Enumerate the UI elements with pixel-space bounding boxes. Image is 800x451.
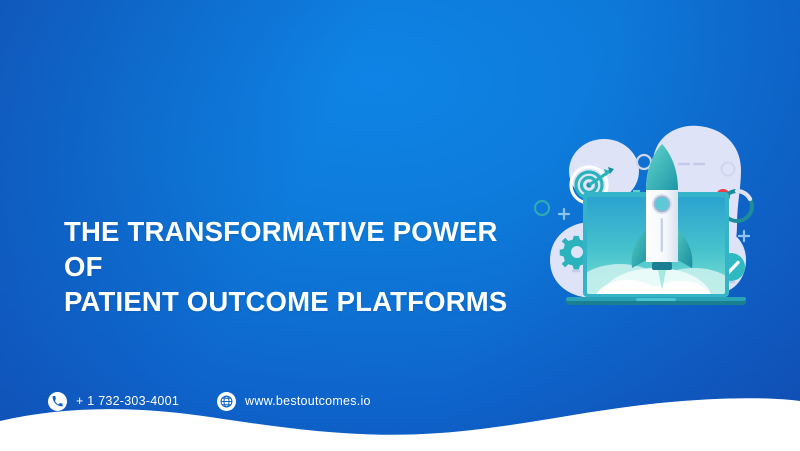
bottom-wave-decoration <box>0 391 800 451</box>
rocket-launch-illustration: 1 <box>528 118 784 333</box>
promo-banner: 1 <box>0 0 800 451</box>
page-title: THE TRANSFORMATIVE POWER OF PATIENT OUTC… <box>64 214 534 319</box>
